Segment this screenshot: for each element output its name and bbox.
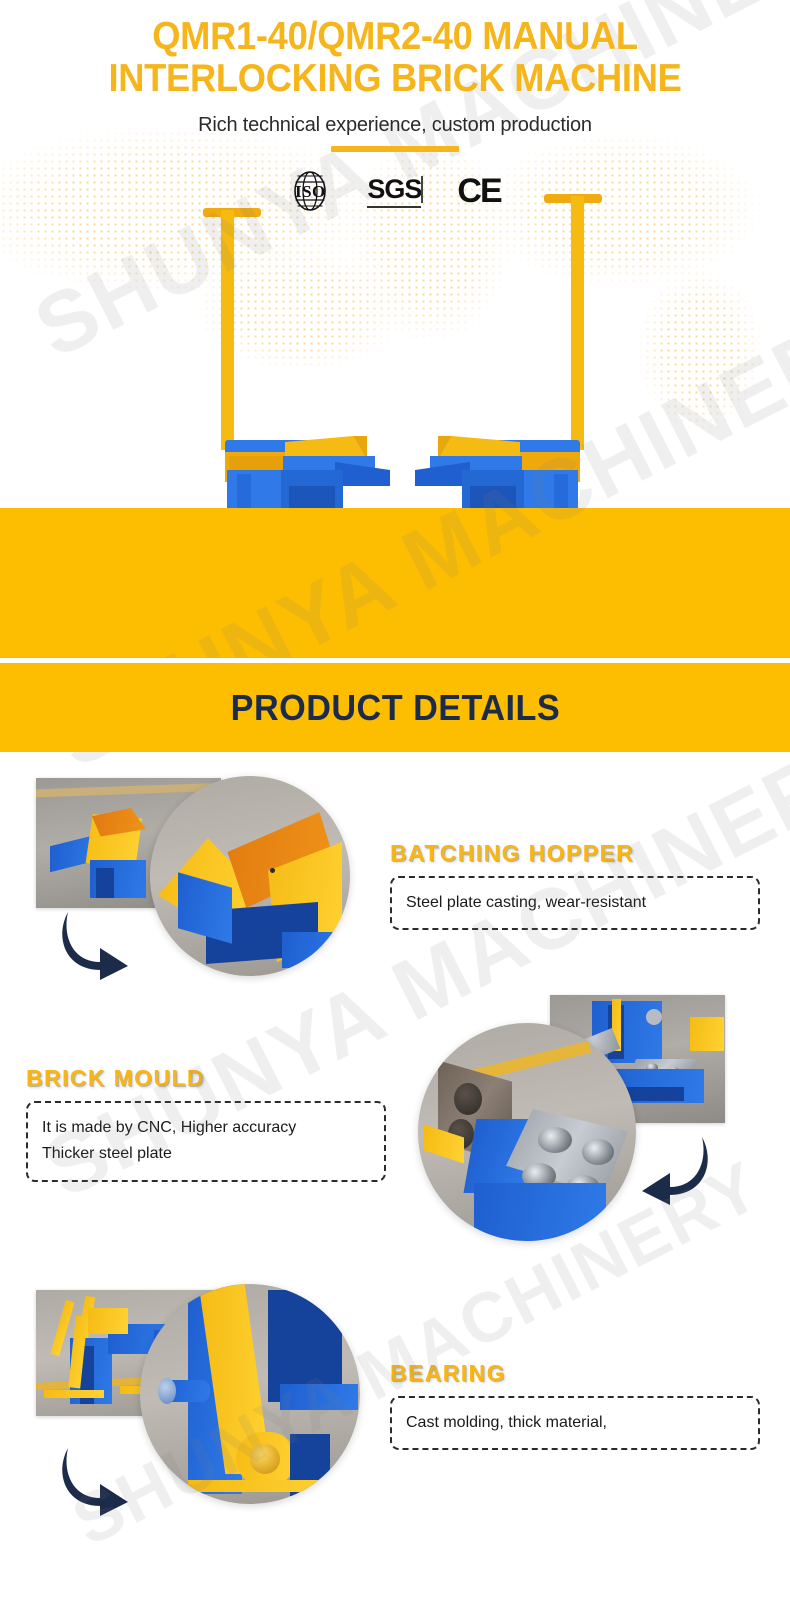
hero-subtitle: Rich technical experience, custom produc… bbox=[0, 114, 790, 137]
sgs-certification: SGS bbox=[367, 174, 421, 208]
sgs-tick-mark bbox=[421, 176, 423, 203]
machine-qmr2-40 bbox=[410, 170, 620, 508]
sgs-underline bbox=[367, 206, 421, 208]
title-line-1: QMR1-40/QMR2-40 MANUAL bbox=[152, 15, 638, 58]
product-detail-page: QMR1-40/QMR2-40 MANUAL INTERLOCKING BRIC… bbox=[0, 0, 790, 1609]
hero-section: QMR1-40/QMR2-40 MANUAL INTERLOCKING BRIC… bbox=[0, 0, 790, 508]
iso-label: ISO bbox=[289, 182, 331, 202]
arrow-right-icon bbox=[56, 1438, 134, 1516]
page-title: QMR1-40/QMR2-40 MANUAL INTERLOCKING BRIC… bbox=[28, 0, 763, 100]
callout-line: Thicker steel plate bbox=[42, 1141, 370, 1167]
subtitle-underline bbox=[331, 146, 459, 152]
callout-brick-mould: BRICK MOULD It is made by CNC, Higher ac… bbox=[26, 1065, 386, 1182]
product-details-banner: PRODUCT DETAILS bbox=[0, 663, 790, 752]
hero-product-photos bbox=[0, 170, 790, 508]
feature-bearing: BEARING Cast molding, thick material, bbox=[0, 1272, 790, 1572]
feature-batching-hopper: BATCHING HOPPER Steel plate casting, wea… bbox=[0, 752, 790, 1002]
callout-description-box: Steel plate casting, wear-resistant bbox=[390, 876, 760, 930]
machine-qmr1-40 bbox=[185, 170, 395, 508]
callout-description-box: It is made by CNC, Higher accuracy Thick… bbox=[26, 1101, 386, 1182]
lever-handle bbox=[544, 194, 602, 450]
mould-photo-closeup bbox=[418, 1023, 636, 1241]
iso-certification: ISO bbox=[289, 170, 331, 212]
callout-description-box: Cast molding, thick material, bbox=[390, 1396, 760, 1450]
ce-label: CE bbox=[457, 174, 500, 208]
hopper-photo-closeup bbox=[150, 776, 350, 976]
hero-yellow-band bbox=[0, 508, 790, 658]
arrow-left-icon bbox=[636, 1127, 714, 1205]
callout-title: BEARING bbox=[390, 1360, 760, 1387]
band-divider bbox=[0, 658, 790, 663]
callout-line: Cast molding, thick material, bbox=[406, 1410, 744, 1436]
certification-badges: ISO SGS CE bbox=[0, 168, 790, 214]
sgs-label: SGS bbox=[367, 174, 421, 205]
callout-batching-hopper: BATCHING HOPPER Steel plate casting, wea… bbox=[390, 840, 760, 930]
arrow-right-icon bbox=[56, 902, 134, 980]
section-title: PRODUCT DETAILS bbox=[230, 687, 559, 729]
bearing-photo-closeup bbox=[140, 1284, 360, 1504]
features-section: BATCHING HOPPER Steel plate casting, wea… bbox=[0, 752, 790, 1609]
callout-line: It is made by CNC, Higher accuracy bbox=[42, 1115, 370, 1141]
callout-bearing: BEARING Cast molding, thick material, bbox=[390, 1360, 760, 1450]
feature-brick-mould: BRICK MOULD It is made by CNC, Higher ac… bbox=[0, 987, 790, 1247]
callout-title: BATCHING HOPPER bbox=[390, 840, 760, 867]
ce-certification: CE bbox=[457, 174, 500, 208]
callout-line: Steel plate casting, wear-resistant bbox=[406, 890, 744, 916]
title-line-2: INTERLOCKING BRICK MACHINE bbox=[28, 58, 763, 100]
callout-title: BRICK MOULD bbox=[26, 1065, 386, 1092]
lever-handle bbox=[203, 208, 261, 450]
